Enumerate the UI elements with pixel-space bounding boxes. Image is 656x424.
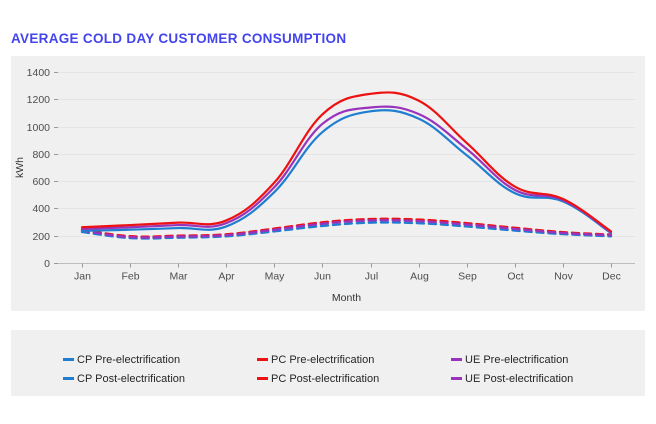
legend-item-label: CP Post-electrification bbox=[77, 373, 185, 385]
y-tick-label: 800 bbox=[32, 149, 50, 161]
page-title: AVERAGE COLD DAY CUSTOMER CONSUMPTION bbox=[11, 31, 346, 46]
gridlines bbox=[58, 73, 635, 264]
legend-item[interactable]: CP Post-electrification bbox=[63, 373, 257, 385]
y-tick-label: 0 bbox=[44, 258, 50, 270]
y-axis-title: kWh bbox=[14, 157, 26, 178]
legend-grid: CP Pre-electrificationPC Pre-electrifica… bbox=[11, 330, 645, 396]
series-line bbox=[82, 92, 611, 231]
legend-swatch-icon bbox=[257, 377, 268, 380]
data-series-lines bbox=[82, 92, 611, 238]
y-tick-label: 400 bbox=[32, 203, 50, 215]
legend-item[interactable]: PC Post-electrification bbox=[257, 373, 451, 385]
x-tick-label: Mar bbox=[169, 271, 188, 283]
legend-item-label: CP Pre-electrification bbox=[77, 354, 180, 366]
x-tick-label: Apr bbox=[218, 271, 235, 283]
series-line bbox=[82, 107, 611, 233]
x-tick-label: May bbox=[265, 271, 286, 283]
legend-item-label: PC Pre-electrification bbox=[271, 354, 374, 366]
legend-swatch-icon bbox=[451, 358, 462, 361]
legend-item-label: UE Pre-electrification bbox=[465, 354, 568, 366]
x-tick-label: Jul bbox=[365, 271, 378, 283]
legend-swatch-icon bbox=[63, 358, 74, 361]
x-axis-title: Month bbox=[332, 292, 361, 304]
legend-item-label: UE Post-electrification bbox=[465, 373, 573, 385]
y-tick-label: 200 bbox=[32, 231, 50, 243]
y-tick-label: 600 bbox=[32, 176, 50, 188]
y-tick-label: 1400 bbox=[27, 67, 51, 79]
x-tick-label: Feb bbox=[121, 271, 139, 283]
y-tick-label: 1200 bbox=[27, 94, 51, 106]
legend-swatch-icon bbox=[451, 377, 462, 380]
legend-item[interactable]: UE Pre-electrification bbox=[451, 354, 645, 366]
x-tick-label: Aug bbox=[410, 271, 429, 283]
legend-item[interactable]: CP Pre-electrification bbox=[63, 354, 257, 366]
x-tick-label: Nov bbox=[554, 271, 573, 283]
legend-swatch-icon bbox=[257, 358, 268, 361]
legend-item[interactable]: PC Pre-electrification bbox=[257, 354, 451, 366]
legend-item[interactable]: UE Post-electrification bbox=[451, 373, 645, 385]
x-tick-label: Jun bbox=[314, 271, 331, 283]
x-axis-tick-labels: JanFebMarAprMayJunJulAugSepOctNovDec bbox=[74, 271, 621, 283]
chart-legend-panel: CP Pre-electrificationPC Pre-electrifica… bbox=[11, 330, 645, 396]
legend-swatch-icon bbox=[63, 377, 74, 380]
line-chart-svg: 0200400600800100012001400 JanFebMarAprMa… bbox=[11, 56, 645, 311]
x-tick-label: Dec bbox=[602, 271, 621, 283]
x-tick-label: Jan bbox=[74, 271, 91, 283]
x-tick-label: Sep bbox=[458, 271, 477, 283]
series-line bbox=[82, 110, 611, 233]
x-tick-label: Oct bbox=[507, 271, 523, 283]
y-axis-tick-labels: 0200400600800100012001400 bbox=[27, 67, 51, 270]
y-tick-label: 1000 bbox=[27, 122, 51, 134]
legend-item-label: PC Post-electrification bbox=[271, 373, 379, 385]
chart-plot-panel: 0200400600800100012001400 JanFebMarAprMa… bbox=[11, 56, 645, 311]
chart-page: AVERAGE COLD DAY CUSTOMER CONSUMPTION 02… bbox=[0, 0, 656, 424]
